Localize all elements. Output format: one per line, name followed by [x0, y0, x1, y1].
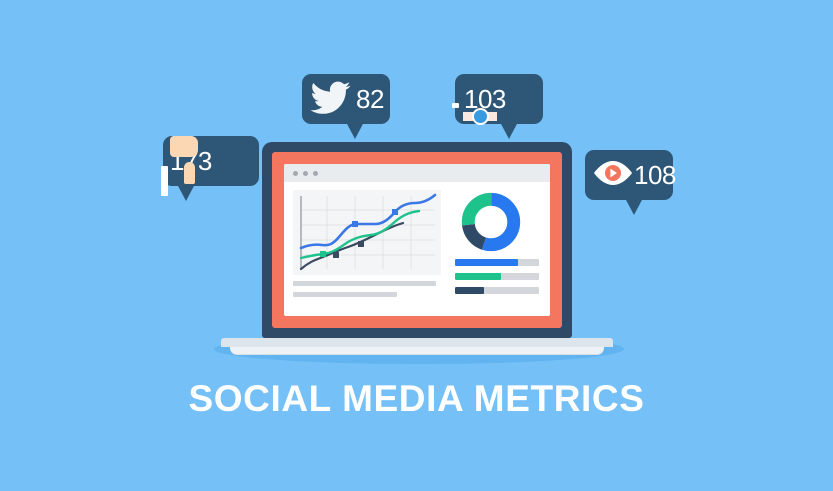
page-title: SOCIAL MEDIA METRICS	[0, 378, 833, 420]
badge-views[interactable]: 108	[585, 150, 673, 200]
line-series-green	[301, 211, 419, 258]
window-dot-3-icon[interactable]	[313, 171, 318, 176]
bar-fill-2	[455, 273, 501, 280]
text-placeholder-short	[293, 292, 397, 297]
line-chart-svg	[293, 190, 441, 275]
line-chart-panel	[293, 190, 445, 316]
laptop-lid	[262, 142, 572, 338]
badge-views-tail	[625, 198, 643, 215]
bar-row-1	[455, 259, 539, 266]
badge-likes[interactable]: 173	[163, 136, 259, 186]
laptop-screen	[284, 164, 550, 316]
dashboard-body	[284, 182, 550, 316]
bar-row-3	[455, 287, 539, 294]
bar-row-2	[455, 273, 539, 280]
window-dot-1-icon[interactable]	[293, 171, 298, 176]
line-chart	[293, 190, 441, 275]
badge-likes-tail	[177, 184, 195, 201]
laptop-bezel	[272, 152, 562, 328]
laptop-base-notch	[396, 338, 438, 343]
badge-photos-tail	[500, 122, 518, 139]
badge-tweets-count: 82	[356, 86, 384, 112]
donut-chart	[461, 192, 521, 252]
line-series-navy	[301, 223, 403, 269]
twitter-bird-svg	[310, 79, 352, 115]
badge-views-count: 108	[634, 162, 676, 188]
window-dot-2-icon[interactable]	[303, 171, 308, 176]
bar-fill-3	[455, 287, 484, 294]
eye-play-svg	[593, 160, 633, 186]
donut-chart-svg	[461, 192, 521, 252]
summary-panel	[445, 190, 541, 316]
badge-photos[interactable]: 103	[455, 74, 543, 124]
text-placeholder-long	[293, 281, 436, 286]
eye-play-icon	[593, 160, 633, 191]
badge-photos-count: 103	[464, 86, 506, 112]
badge-tweets-tail	[346, 122, 364, 139]
badge-tweets[interactable]: 82	[302, 74, 390, 124]
illustration-canvas: 173 82 103	[0, 0, 833, 491]
bar-fill-1	[455, 259, 518, 266]
twitter-bird-icon	[310, 79, 352, 120]
browser-title-bar	[284, 164, 550, 182]
donut-segment-green	[468, 199, 513, 244]
